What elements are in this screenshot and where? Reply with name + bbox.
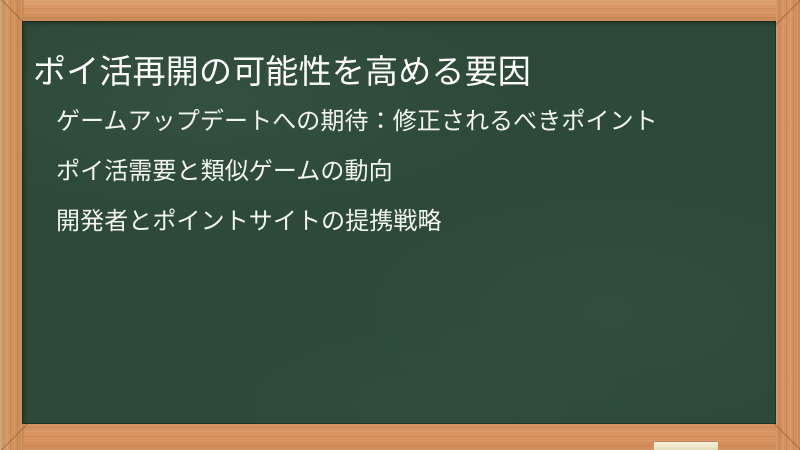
wood-grain-top <box>0 0 800 22</box>
frame-right <box>776 0 800 450</box>
chalkboard-surface: ポイ活再開の可能性を高める要因 ゲームアップデートへの期待：修正されるべきポイン… <box>22 21 776 424</box>
chalkboard-slide: ポイ活再開の可能性を高める要因 ゲームアップデートへの期待：修正されるべきポイン… <box>0 0 800 450</box>
slide-title: ポイ活再開の可能性を高める要因 <box>33 52 760 92</box>
chalk-stick-icon <box>654 442 718 450</box>
slide-bullet-list: ゲームアップデートへの期待：修正されるべきポイント ポイ活需要と類似ゲームの動向… <box>56 105 738 239</box>
list-item: 開発者とポイントサイトの提携戦略 <box>56 205 738 239</box>
frame-top <box>0 0 800 22</box>
list-item: ゲームアップデートへの期待：修正されるべきポイント <box>56 105 738 139</box>
wood-grain-left <box>0 0 24 450</box>
frame-left <box>0 0 24 450</box>
list-item: ポイ活需要と類似ゲームの動向 <box>56 155 738 189</box>
wood-grain-right <box>776 0 800 450</box>
